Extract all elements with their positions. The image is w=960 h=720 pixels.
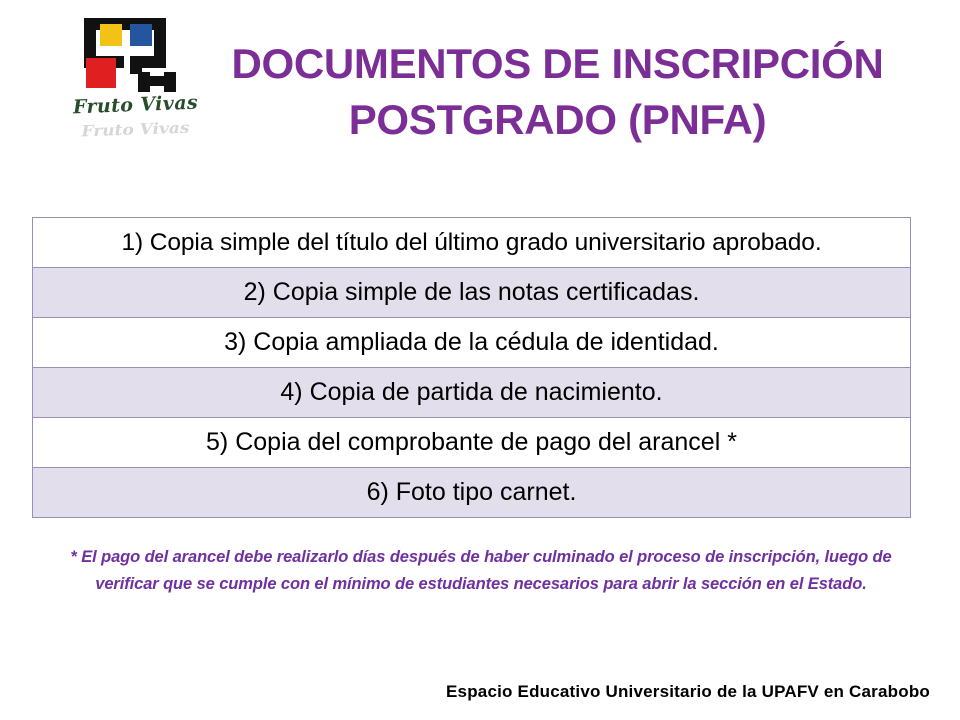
page-header: Fruto Vivas Fruto Vivas DOCUMENTOS DE IN… [0, 0, 960, 175]
documentos-inscripcion-table: 1) Copia simple del título del último gr… [32, 217, 911, 518]
footnote-note: * El pago del arancel debe realizarlo dí… [48, 544, 914, 598]
table-cell-requirement: 2) Copia simple de las notas certificada… [33, 268, 911, 318]
table-row: 6) Foto tipo carnet. [33, 468, 911, 518]
table-cell-requirement: 5) Copia del comprobante de pago del ara… [33, 418, 911, 468]
table-cell-requirement: 4) Copia de partida de nacimiento. [33, 368, 911, 418]
fruto-vivas-logo-icon [80, 16, 188, 94]
table-row: 5) Copia del comprobante de pago del ara… [33, 418, 911, 468]
logo-block: Fruto Vivas Fruto Vivas [68, 12, 203, 160]
footer-institution: Espacio Educativo Universitario de la UP… [0, 682, 930, 702]
table-row: 2) Copia simple de las notas certificada… [33, 268, 911, 318]
table-cell-requirement: 6) Foto tipo carnet. [33, 468, 911, 518]
page-title-line-1: DOCUMENTOS DE INSCRIPCIÓN [185, 36, 930, 92]
logo-script-text: Fruto Vivas [68, 91, 204, 118]
table-cell-requirement: 3) Copia ampliada de la cédula de identi… [33, 318, 911, 368]
logo-script-faded-text: Fruto Vivas [68, 119, 204, 142]
table-row: 3) Copia ampliada de la cédula de identi… [33, 318, 911, 368]
table-row: 4) Copia de partida de nacimiento. [33, 368, 911, 418]
footnote-line-1: * El pago del arancel debe realizarlo dí… [70, 548, 820, 566]
page-title-line-2: POSTGRADO (PNFA) [185, 92, 930, 148]
page-title: DOCUMENTOS DE INSCRIPCIÓN POSTGRADO (PNF… [185, 36, 930, 148]
table-cell-requirement: 1) Copia simple del título del último gr… [33, 218, 911, 268]
footnote-line-3: Estado. [808, 575, 867, 593]
table-row: 1) Copia simple del título del último gr… [33, 218, 911, 268]
